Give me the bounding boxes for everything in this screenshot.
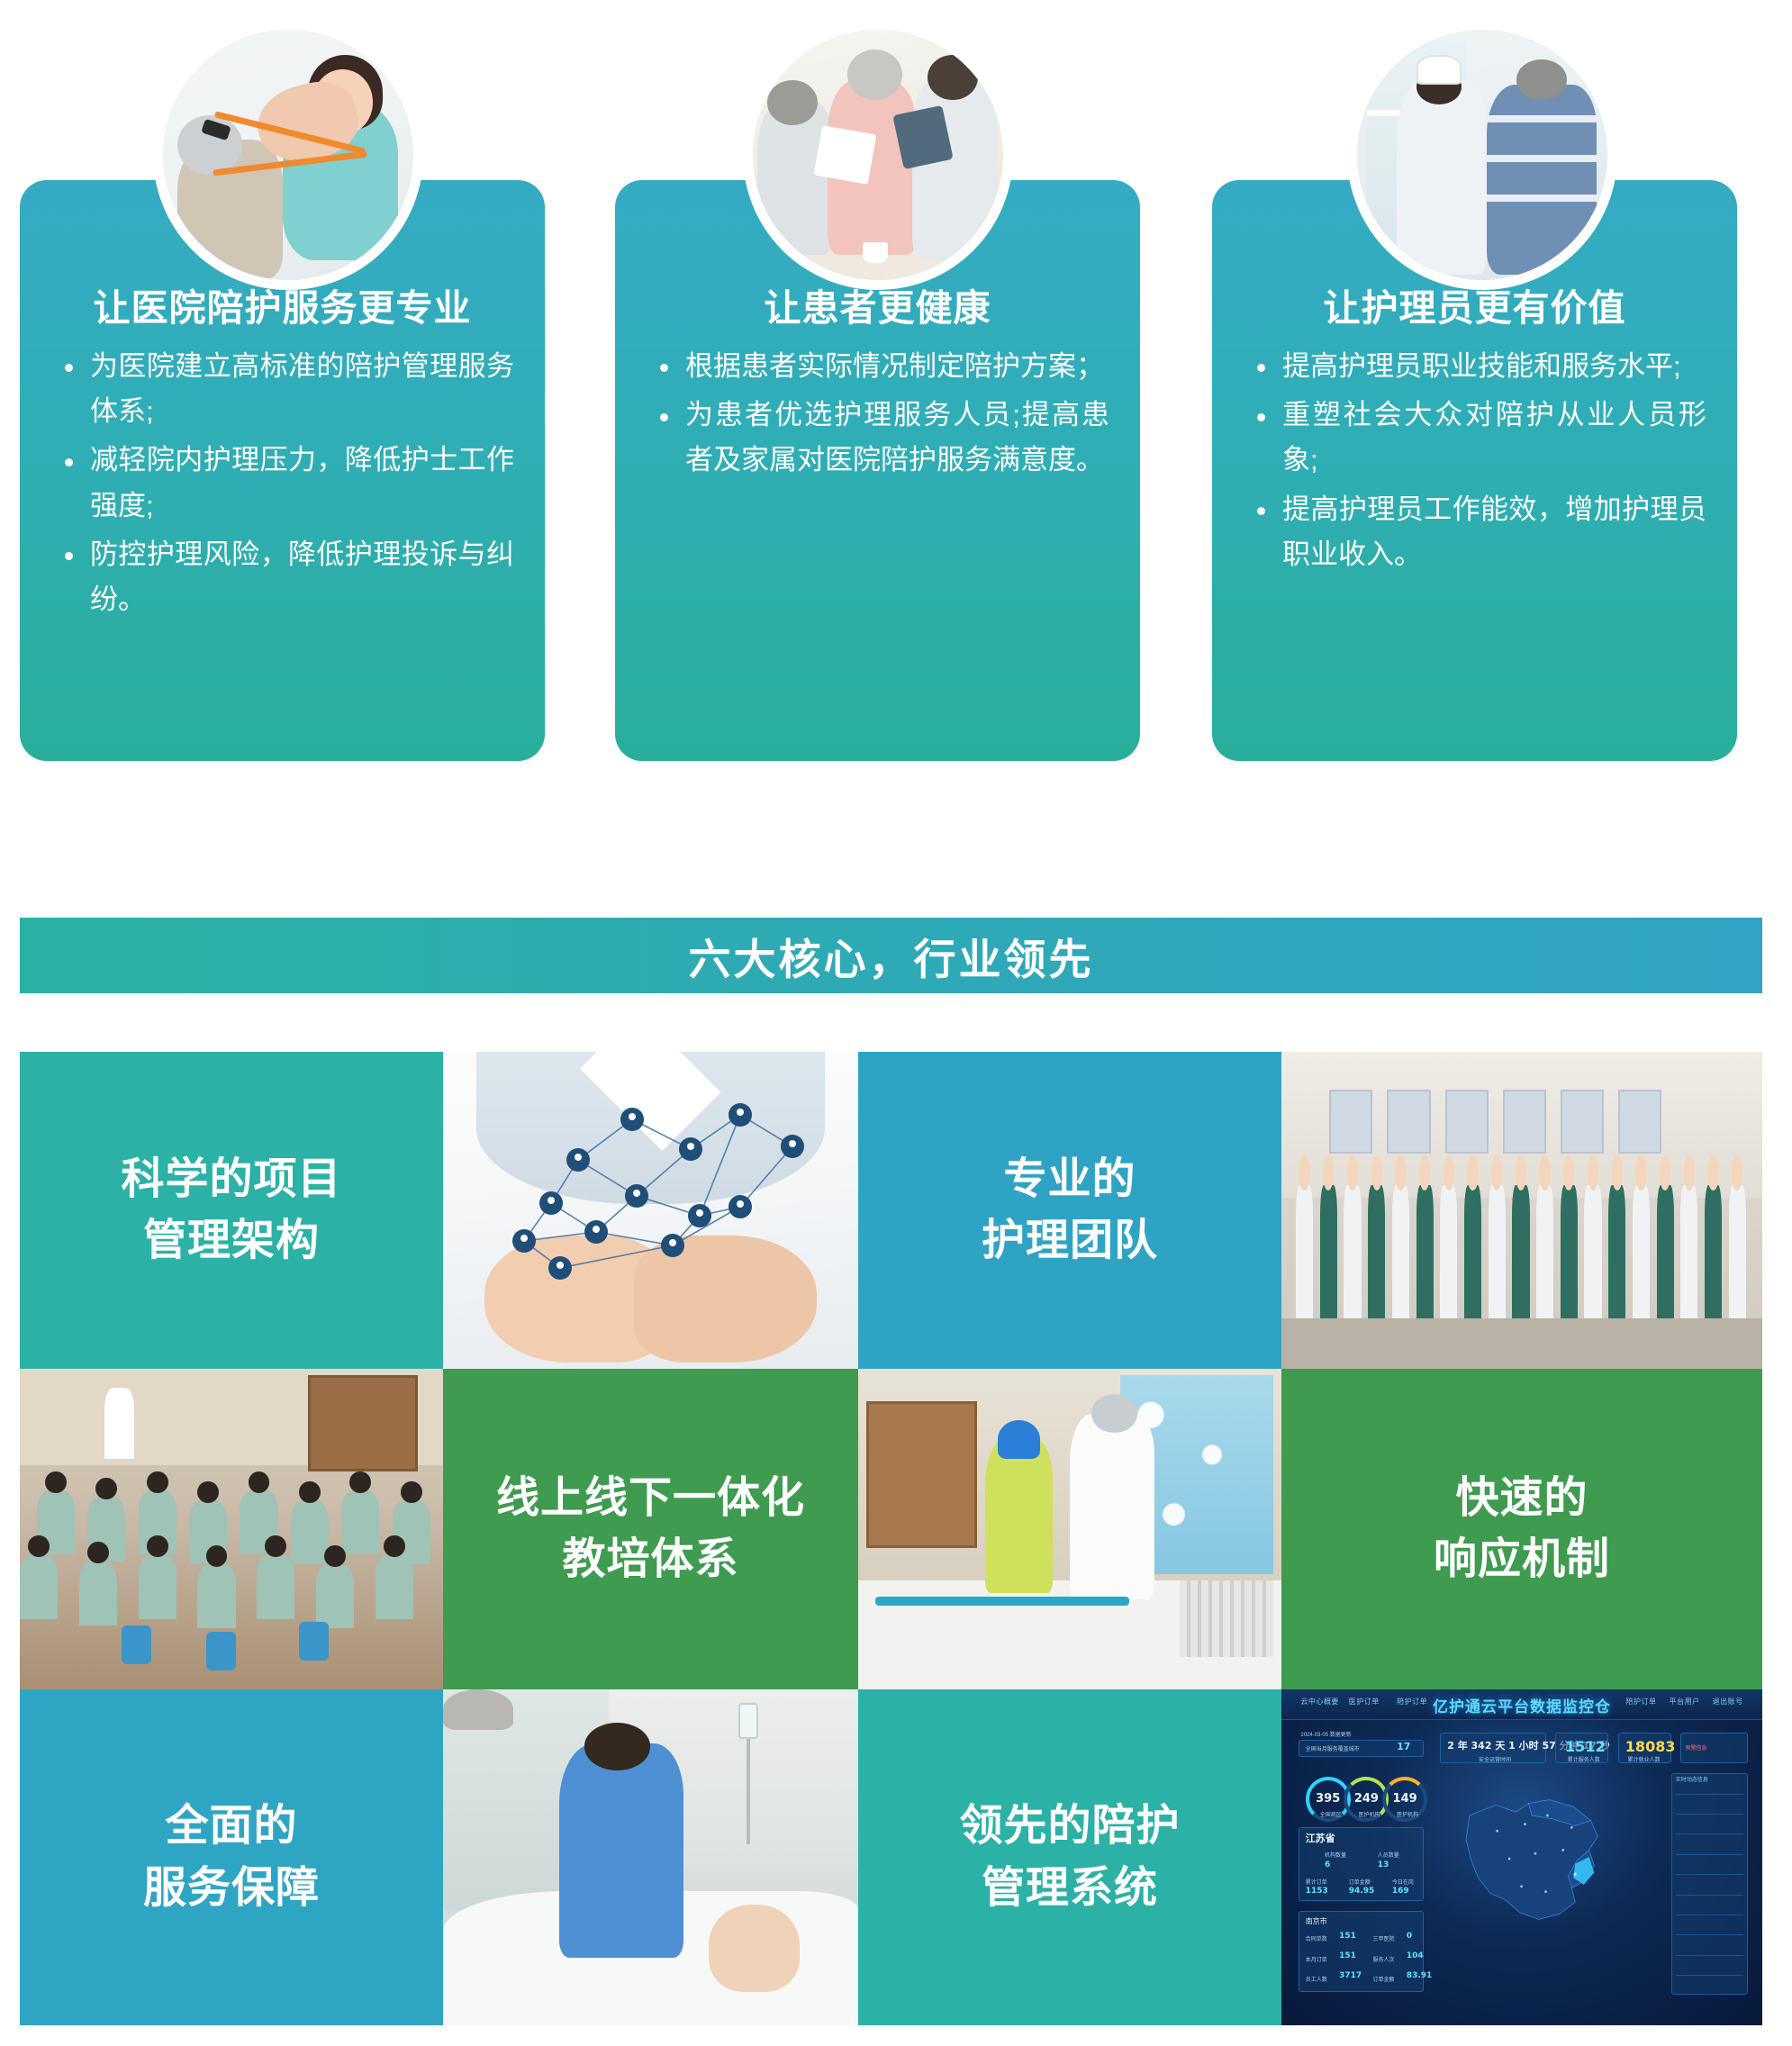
network-diagram-icon — [443, 1052, 858, 1369]
dashboard-city-stat-value: 0 — [1407, 1932, 1412, 1941]
grid-tile-label: 快速的 响应机制 — [1434, 1468, 1610, 1590]
china-map-chart — [1445, 1770, 1618, 2005]
dashboard-province-stat-label: 机构数量 — [1325, 1851, 1346, 1859]
dashboard-nav-item[interactable]: 陪护订单 — [1626, 1697, 1657, 1707]
grid-tile-online-offline-training[interactable]: 线上线下一体化 教培体系 — [443, 1369, 858, 1689]
bullet-dot-icon — [65, 364, 73, 372]
dashboard-city-stat-label: 服务人次 — [1372, 1955, 1394, 1963]
grid-tile-label: 领先的陪护 管理系统 — [959, 1796, 1180, 1918]
dashboard-nav-item[interactable]: 陪护订单 — [1397, 1697, 1427, 1707]
bullet-dot-icon — [65, 552, 73, 560]
dashboard-city-stat-value: 83.91 — [1407, 1971, 1432, 1980]
dashboard-nav-item[interactable]: 云中心概要 — [1300, 1697, 1339, 1707]
grid-tile-leading-management-system[interactable]: 领先的陪护 管理系统 — [858, 1689, 1281, 2025]
six-core-grid: 科学的项目 管理架构 — [20, 1052, 1762, 2025]
value-card-1-photo — [153, 20, 423, 290]
value-card-3-title: 让护理员更有价值 — [1212, 277, 1737, 331]
value-card-3[interactable]: 让护理员更有价值 提高护理员职业技能和服务水平; 重塑社会大众对陪护从业人员形象… — [1212, 180, 1737, 761]
nursing-team-group-photo-image — [1281, 1052, 1762, 1369]
value-proposition-cards: 让医院陪护服务更专业 为医院建立高标准的陪护管理服务体系; 减轻院内护理压力，降… — [0, 0, 1792, 810]
list-item: 防控护理风险，降低护理投诉与纠纷。 — [59, 532, 514, 622]
dashboard-ring-value: 149 — [1382, 1792, 1427, 1806]
dashboard-city-stat-value: 151 — [1339, 1951, 1356, 1960]
grid-tile-rapid-response[interactable]: 快速的 响应机制 — [1281, 1369, 1762, 1689]
list-item: 重塑社会大众对陪护从业人员形象; — [1252, 393, 1706, 483]
grid-tile-network-image — [443, 1052, 858, 1369]
dashboard-log-title: 实时动态信息 — [1676, 1775, 1708, 1783]
list-item: 根据患者实际情况制定陪护方案； — [655, 344, 1109, 389]
dashboard-city-count: 17 — [1397, 1741, 1410, 1752]
value-card-2-list: 根据患者实际情况制定陪护方案； 为患者优选护理服务人员;提高患者及家属对医院陪护… — [655, 344, 1109, 487]
value-card-3-list: 提高护理员职业技能和服务水平; 重塑社会大众对陪护从业人员形象; 提高护理员工作… — [1252, 344, 1706, 581]
section-banner-title: 六大核心，行业领先 — [689, 925, 1094, 987]
grid-tile-team-photo — [1281, 1052, 1762, 1369]
grid-tile-professional-team[interactable]: 专业的 护理团队 — [858, 1052, 1281, 1369]
dashboard-city-stat-label: 订单金额 — [1372, 1975, 1394, 1983]
dashboard-province-row-label: 今日在岗 — [1392, 1878, 1414, 1886]
china-map-icon — [1445, 1770, 1618, 1943]
bullet-dot-icon — [1257, 507, 1265, 515]
dashboard-alert-label: 预警信息 — [1686, 1743, 1707, 1752]
grid-tile-label: 专业的 护理团队 — [982, 1149, 1158, 1272]
value-card-1[interactable]: 让医院陪护服务更专业 为医院建立高标准的陪护管理服务体系; 减轻院内护理压力，降… — [20, 180, 545, 761]
grid-tile-scientific-management[interactable]: 科学的项目 管理架构 — [20, 1052, 443, 1369]
list-item: 减轻院内护理压力，降低护士工作强度; — [59, 438, 514, 528]
value-card-1-title: 让医院陪护服务更专业 — [20, 277, 545, 331]
dashboard-kpi1-label: 累计服务人数 — [1568, 1755, 1600, 1763]
dashboard-kpi2-value: 18083 — [1625, 1738, 1676, 1755]
dashboard-kpi2-label: 累计就业人数 — [1627, 1755, 1660, 1763]
grid-tile-label: 科学的项目 管理架构 — [121, 1149, 341, 1272]
grid-tile-comprehensive-guarantee[interactable]: 全面的 服务保障 — [20, 1689, 443, 2025]
value-card-2[interactable]: 让患者更健康 根据患者实际情况制定陪护方案； 为患者优选护理服务人员;提高患者及… — [615, 180, 1140, 761]
value-card-1-list: 为医院建立高标准的陪护管理服务体系; 减轻院内护理压力，降低护士工作强度; 防控… — [59, 344, 514, 626]
bullet-dot-icon — [65, 458, 73, 466]
bedside-nursing-image — [443, 1689, 858, 2025]
bullet-dot-icon — [1257, 364, 1265, 372]
dashboard-city-stat-label: 合同单数 — [1306, 1934, 1327, 1942]
dashboard-province-stat-label: 人员数量 — [1378, 1851, 1399, 1859]
dashboard-nav-item[interactable]: 平台用户 — [1670, 1697, 1700, 1707]
grid-tile-label: 全面的 服务保障 — [143, 1796, 320, 1918]
dashboard-ring-label: 医护机构 — [1397, 1810, 1418, 1818]
bullet-dot-icon — [660, 364, 668, 372]
dashboard-province-stat-value: 6 — [1325, 1860, 1330, 1869]
nurse-assisting-patient-image — [1357, 30, 1607, 280]
dashboard-city-stat-label: 本月订单 — [1306, 1955, 1327, 1963]
list-item: 为患者优选护理服务人员;提高患者及家属对医院陪护服务满意度。 — [655, 393, 1109, 483]
dashboard-ring-label: 医护机构 — [1358, 1810, 1380, 1818]
dashboard-city-stat-label: 三甲医院 — [1372, 1934, 1394, 1942]
list-item: 提高护理员职业技能和服务水平; — [1252, 344, 1706, 389]
training-classroom-image — [20, 1369, 443, 1689]
dashboard-update-note: 2024-03-05 数据更新 — [1300, 1730, 1351, 1738]
dashboard-nav-item[interactable]: 退出账号 — [1713, 1697, 1743, 1707]
dashboard-province-row-label: 订单金额 — [1349, 1878, 1371, 1886]
dashboard-province-row-label: 累计订单 — [1306, 1878, 1327, 1886]
dashboard-province-row-value: 169 — [1392, 1887, 1409, 1896]
dashboard-city: 南京市 — [1306, 1916, 1327, 1926]
bullet-dot-icon — [1257, 413, 1265, 421]
cloud-platform-dashboard-image: 亿护通云平台数据监控仓 云中心概要 医护订单 陪护订单 陪护订单 平台用户 退出… — [1281, 1689, 1762, 2025]
dashboard-province-stat-value: 13 — [1378, 1860, 1389, 1869]
bullet-dot-icon — [660, 413, 668, 421]
section-banner: 六大核心，行业领先 — [20, 918, 1762, 993]
network-of-people-in-hands-image — [443, 1052, 858, 1369]
dashboard-city-stat-value: 104 — [1407, 1951, 1424, 1960]
grid-tile-label: 线上线下一体化 教培体系 — [496, 1468, 805, 1590]
dashboard-nav-item[interactable]: 医护订单 — [1349, 1697, 1380, 1707]
dashboard-city-stat-label: 员工人数 — [1306, 1975, 1327, 1983]
list-item: 为医院建立高标准的陪护管理服务体系; — [59, 344, 514, 434]
dashboard-ring-label: 全国病区 — [1320, 1810, 1342, 1818]
grid-tile-bedside-photo — [443, 1689, 858, 2025]
value-card-2-title: 让患者更健康 — [615, 277, 1140, 331]
ward-care-image — [858, 1369, 1281, 1689]
dashboard-kpi1-value: 1512 — [1565, 1738, 1606, 1755]
grid-tile-dashboard-screenshot: 亿护通云平台数据监控仓 云中心概要 医护订单 陪护订单 陪护订单 平台用户 退出… — [1281, 1689, 1762, 2025]
dashboard-city-label: 全国当月服务覆盖城市 — [1306, 1744, 1360, 1752]
marketing-page: 让医院陪护服务更专业 为医院建立高标准的陪护管理服务体系; 减轻院内护理压力，降… — [0, 0, 1792, 2046]
grid-tile-ward-photo — [858, 1369, 1281, 1689]
dashboard-province-row-value: 1153 — [1306, 1887, 1328, 1896]
family-consultation-image — [753, 30, 1003, 280]
dashboard-city-stat-value: 3717 — [1339, 1971, 1362, 1980]
dashboard-province-row-value: 94.95 — [1349, 1887, 1374, 1896]
dashboard-province: 江苏省 — [1306, 1831, 1335, 1845]
grid-tile-classroom-photo — [20, 1369, 443, 1689]
value-card-2-photo — [743, 20, 1013, 290]
value-card-3-photo — [1347, 20, 1617, 290]
rehab-therapy-image — [163, 30, 413, 280]
dashboard-timer-label: 安全运营时间 — [1479, 1755, 1511, 1763]
list-item: 提高护理员工作能效，增加护理员职业收入。 — [1252, 487, 1706, 577]
dashboard-city-stat-value: 151 — [1339, 1932, 1356, 1941]
